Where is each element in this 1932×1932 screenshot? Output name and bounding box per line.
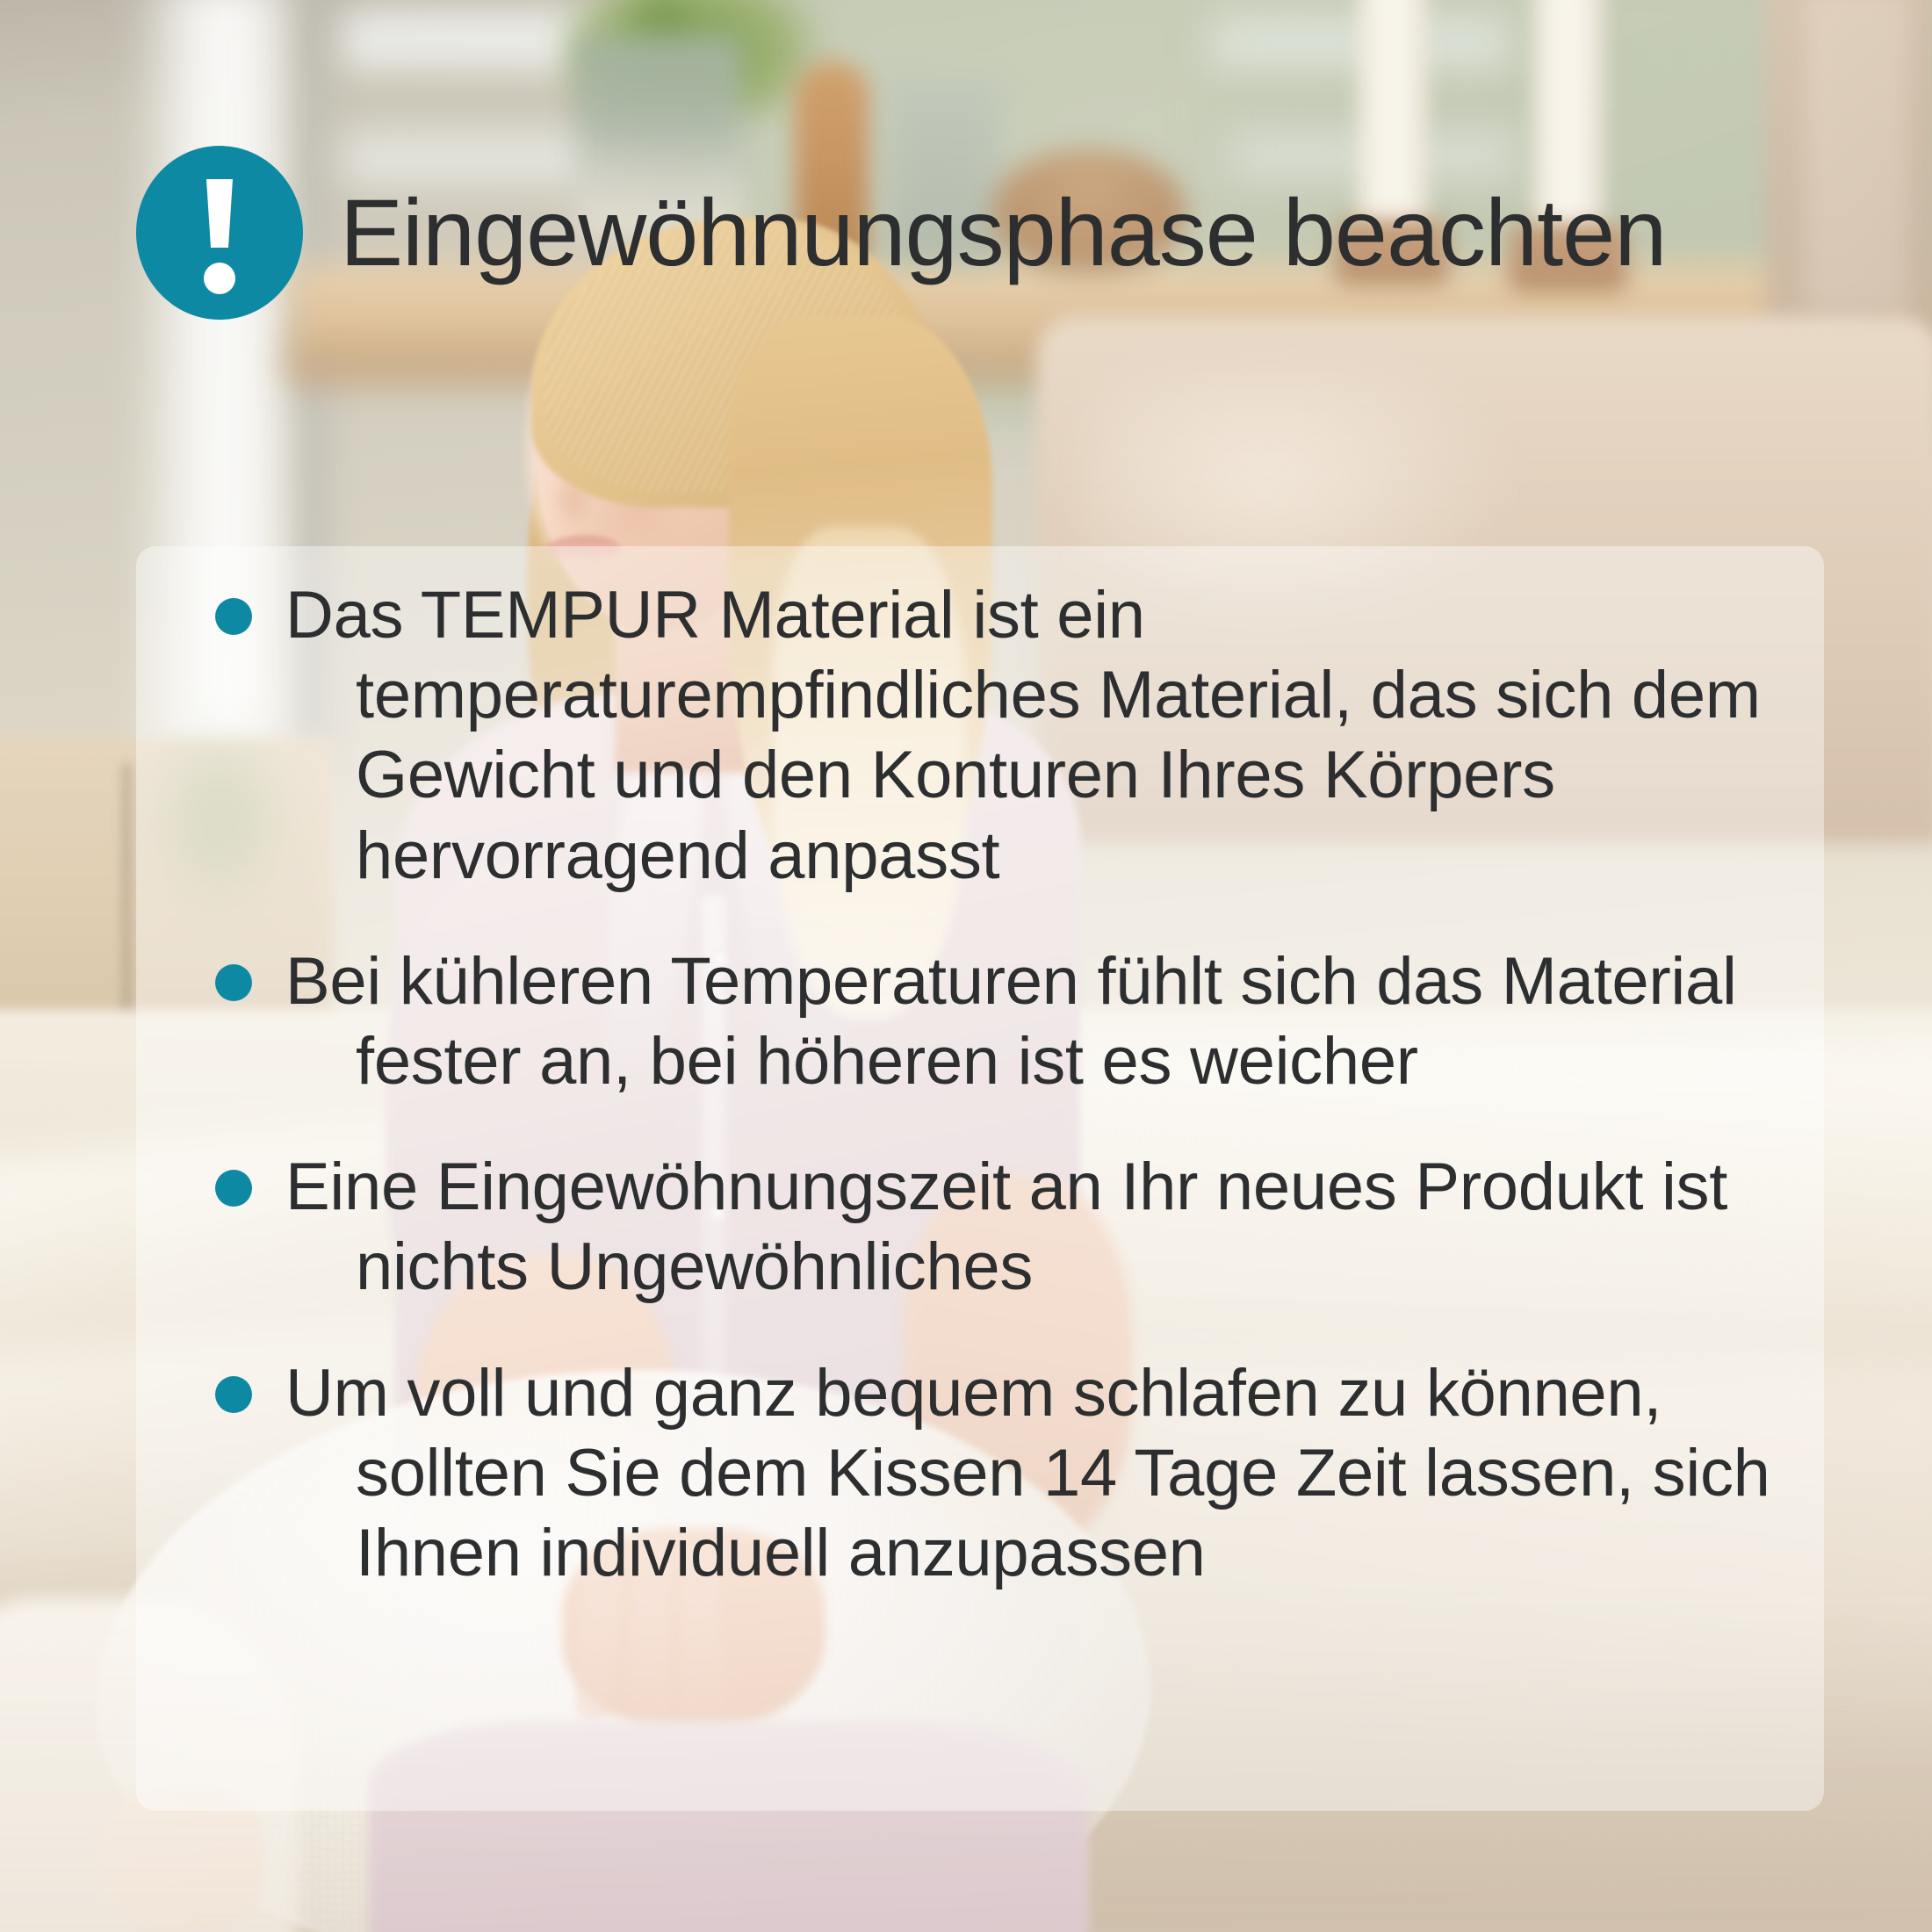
- list-item: Bei kühleren Temperaturen fühlt sich das…: [215, 941, 1787, 1101]
- bullet-dot-icon: [215, 1376, 252, 1413]
- list-item-text: Bei kühleren Temperaturen fühlt sich das…: [285, 941, 1787, 1101]
- list-item: Eine Eingewöhnungszeit an Ihr neues Prod…: [215, 1147, 1787, 1307]
- list-item-text: Um voll und ganz bequem schlafen zu könn…: [285, 1353, 1787, 1594]
- list-item-text: Das TEMPUR Material ist ein temperaturem…: [285, 575, 1787, 896]
- list-item: Das TEMPUR Material ist ein temperaturem…: [215, 575, 1787, 896]
- list-item: Um voll und ganz bequem schlafen zu könn…: [215, 1353, 1787, 1594]
- infographic-card: Eingewöhnungsphase beachten Das TEMPUR M…: [0, 0, 1932, 1932]
- header: Eingewöhnungsphase beachten: [136, 132, 1849, 334]
- bullet-dot-icon: [215, 1170, 252, 1207]
- bullet-dot-icon: [215, 964, 252, 1001]
- bullet-dot-icon: [215, 598, 252, 635]
- page-title: Eingewöhnungsphase beachten: [340, 185, 1666, 280]
- bullet-list: Das TEMPUR Material ist ein temperaturem…: [215, 575, 1787, 1593]
- exclamation-circle-icon: [136, 146, 303, 320]
- list-item-text: Eine Eingewöhnungszeit an Ihr neues Prod…: [285, 1147, 1787, 1307]
